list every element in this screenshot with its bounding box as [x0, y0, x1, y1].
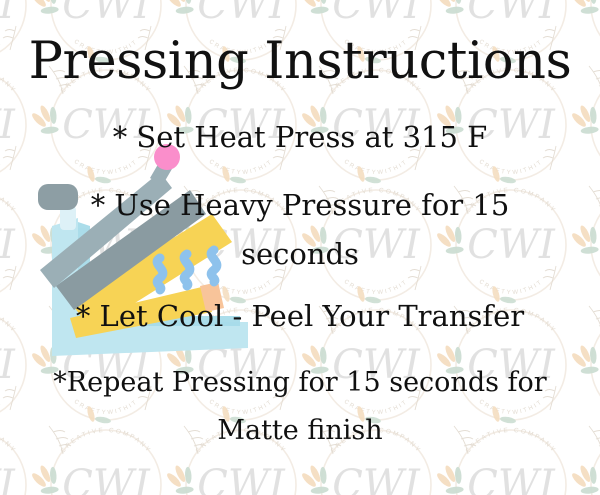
poster-canvas: CREATIVE COMPANYCRAFTYWITHITCWICREATIVE … [0, 0, 600, 495]
instruction-line-4: *Repeat Pressing for 15 seconds for [0, 369, 600, 396]
instruction-line-1: * Set Heat Press at 315 F [0, 123, 600, 152]
instruction-line-4-cont: Matte finish [0, 417, 600, 444]
instruction-line-3: * Let Cool - Peel Your Transfer [0, 302, 600, 331]
instruction-line-2: * Use Heavy Pressure for 15 [0, 191, 600, 220]
text-layer: Pressing Instructions * Set Heat Press a… [0, 0, 600, 495]
instruction-line-2-cont: seconds [0, 240, 600, 269]
page-title: Pressing Instructions [0, 36, 600, 87]
